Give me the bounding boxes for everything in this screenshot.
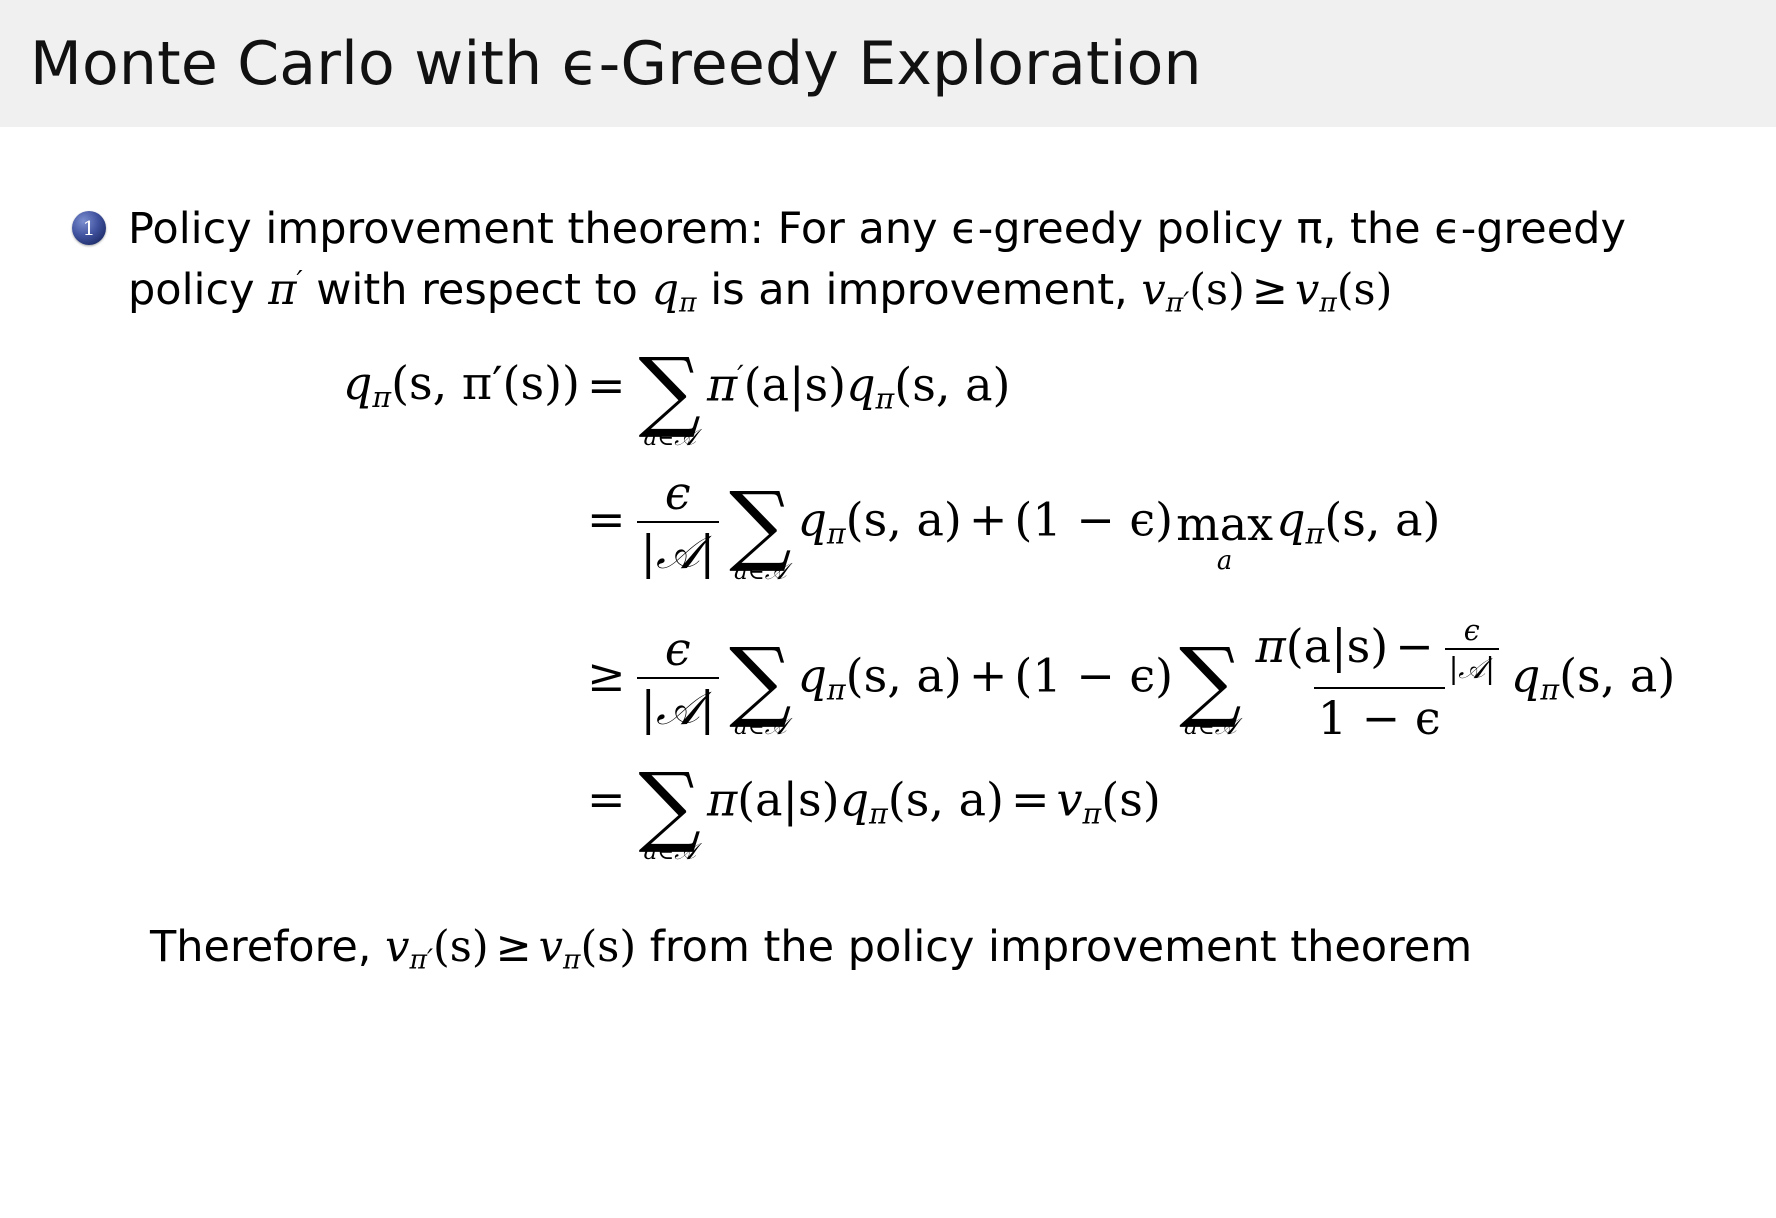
sigma-icon: ∑ — [729, 646, 791, 714]
sigma-icon: ∑ — [639, 356, 701, 424]
plus-operator: + — [969, 648, 1008, 702]
summation-operator-2: ∑a∈𝒜 — [1179, 646, 1241, 739]
q-subscript-pi: π — [876, 383, 895, 416]
q-subscript-pi: π — [372, 381, 391, 414]
q-arguments: (s, a) — [846, 492, 962, 546]
equation-row-2-rhs: =ϵ|𝒜|∑a∈𝒜qπ(s, a)+(1 − ϵ)maxaqπ(s, a) — [580, 466, 1440, 584]
conclusion-text: Therefore, vπ′(s)≥vπ(s) from the policy … — [0, 922, 1776, 975]
v-symbol: v — [1057, 772, 1083, 826]
summation-limit: a∈𝒜 — [734, 716, 787, 739]
v-subscript-pi-prime: π′ — [409, 944, 433, 975]
fraction-numerator: π(a|s)−ϵ|𝒜| — [1251, 614, 1506, 687]
max-operator: maxa — [1176, 497, 1273, 575]
v-symbol-1: v — [1141, 265, 1165, 315]
bullet-line-1: Policy improvement theorem: For any ϵ-gr… — [128, 199, 1596, 260]
enumerate-marker-1: 1 — [72, 211, 106, 245]
policy-difference-fraction: π(a|s)−ϵ|𝒜|1 − ϵ — [1251, 614, 1506, 745]
bullet-line2-post: is an improvement, — [697, 265, 1142, 315]
summation-operator: ∑a∈𝒜 — [639, 356, 701, 449]
summation-operator: ∑a∈𝒜 — [639, 771, 701, 864]
q-subscript-pi: π — [827, 517, 846, 550]
v-arg-2: (s) — [1337, 265, 1393, 315]
geq-relation: ≥ — [496, 922, 532, 972]
slide-root: Monte Carlo with ϵ-Greedy Exploration 1 … — [0, 0, 1776, 1218]
minus-operator: − — [1395, 619, 1434, 673]
v-arguments: (s) — [1101, 772, 1161, 826]
equals-relation: = — [587, 772, 626, 826]
plus-operator: + — [969, 492, 1008, 546]
equals-relation: = — [587, 492, 626, 546]
q-symbol: q — [797, 492, 826, 546]
v-subscript-pi: π — [563, 944, 581, 975]
epsilon-over-cardinality-fraction-inner: ϵ|𝒜| — [1445, 614, 1499, 686]
fraction-denominator: |𝒜| — [637, 677, 720, 737]
equals-relation: = — [587, 358, 626, 412]
fraction-denominator: |𝒜| — [637, 521, 720, 581]
q-symbol: q — [846, 358, 875, 412]
equation-row-3-rhs: ≥ϵ|𝒜|∑a∈𝒜qπ(s, a)+(1 − ϵ)∑a∈𝒜π(a|s)−ϵ|𝒜|… — [580, 614, 1675, 745]
equation-row-3: ≥ϵ|𝒜|∑a∈𝒜qπ(s, a)+(1 − ϵ)∑a∈𝒜π(a|s)−ϵ|𝒜|… — [160, 614, 1776, 745]
max-limit: a — [1217, 549, 1232, 575]
conclusion-post: from the policy improvement theorem — [636, 922, 1472, 972]
fraction-numerator: ϵ — [661, 466, 695, 521]
q-arguments: (s, a) — [846, 648, 962, 702]
v-arg-1: (s) — [433, 922, 489, 972]
list-item: 1 Policy improvement theorem: For any ϵ-… — [0, 199, 1776, 322]
pi-symbol: π — [707, 358, 737, 412]
summation-limit: a∈𝒜 — [643, 427, 696, 450]
v-arg-2: (s) — [581, 922, 637, 972]
pi-symbol: π — [707, 772, 737, 826]
bullet-line-2: policy π′ with respect to qπ is an impro… — [128, 260, 1596, 322]
v-symbol-2: v — [1295, 265, 1319, 315]
epsilon-over-cardinality-fraction: ϵ|𝒜| — [637, 622, 720, 737]
q-subscript-pi: π — [1540, 673, 1559, 706]
one-minus-epsilon-factor: (1 − ϵ) — [1014, 492, 1173, 546]
summation-limit: a∈𝒜 — [1184, 716, 1237, 739]
conditional-argument: (a|s) — [1286, 619, 1388, 673]
q-arguments: (s, a) — [1324, 492, 1440, 546]
fraction-denominator: |𝒜| — [1445, 648, 1499, 686]
equation-row-1-rhs: =∑a∈𝒜π′(a|s)qπ(s, a) — [580, 356, 1010, 449]
equation-block: qπ(s, π′(s)) =∑a∈𝒜π′(a|s)qπ(s, a) =ϵ|𝒜|∑… — [0, 356, 1776, 863]
fraction-numerator: ϵ — [661, 622, 695, 677]
q-subscript-pi: π — [1306, 517, 1325, 550]
geq-relation: ≥ — [587, 648, 626, 702]
bullet-text: Policy improvement theorem: For any ϵ-gr… — [128, 199, 1596, 322]
geq-relation: ≥ — [1252, 265, 1288, 315]
equation-row-2: =ϵ|𝒜|∑a∈𝒜qπ(s, a)+(1 − ϵ)maxaqπ(s, a) — [160, 466, 1776, 584]
q-symbol: q — [1276, 492, 1305, 546]
v-symbol-1: v — [385, 922, 409, 972]
q-subscript-pi: π — [679, 288, 697, 319]
v-symbol-2: v — [539, 922, 563, 972]
max-label: max — [1176, 497, 1273, 551]
one-minus-epsilon-factor: (1 − ϵ) — [1014, 648, 1173, 702]
q-subscript-pi: π — [827, 673, 846, 706]
v-arg-1: (s) — [1189, 265, 1245, 315]
conditional-argument: (a|s) — [737, 772, 839, 826]
q-symbol: q — [840, 772, 869, 826]
v-subscript-pi: π — [1083, 797, 1102, 830]
epsilon-over-cardinality-fraction: ϵ|𝒜| — [637, 466, 720, 581]
q-symbol: q — [652, 265, 680, 315]
conditional-argument: (a|s) — [744, 358, 846, 412]
bullet-line2-mid: with respect to — [303, 265, 652, 315]
equation-row-4-rhs: =∑a∈𝒜π(a|s)qπ(s, a)=vπ(s) — [580, 771, 1161, 864]
summation-operator: ∑a∈𝒜 — [729, 646, 791, 739]
q-subscript-pi: π — [869, 797, 888, 830]
sigma-icon: ∑ — [1179, 646, 1241, 714]
sigma-icon: ∑ — [639, 771, 701, 839]
slide-header: Monte Carlo with ϵ-Greedy Exploration — [0, 0, 1776, 127]
conclusion-pre: Therefore, — [150, 922, 385, 972]
q-symbol: q — [343, 356, 372, 410]
equation-row-4: =∑a∈𝒜π(a|s)qπ(s, a)=vπ(s) — [160, 771, 1776, 864]
fraction-denominator: 1 − ϵ — [1314, 687, 1445, 745]
equals-relation-2: = — [1011, 772, 1050, 826]
page-title: Monte Carlo with ϵ-Greedy Exploration — [0, 29, 1202, 99]
summation-limit: a∈𝒜 — [643, 841, 696, 864]
q-arguments: (s, a) — [1559, 648, 1675, 702]
fraction-numerator: ϵ — [1460, 614, 1484, 648]
equation-row-1: qπ(s, π′(s)) =∑a∈𝒜π′(a|s)qπ(s, a) — [160, 356, 1776, 449]
bullet-line2-pre: policy — [128, 265, 268, 315]
q-arguments: (s, π′(s)) — [391, 356, 580, 410]
slide-content: 1 Policy improvement theorem: For any ϵ-… — [0, 199, 1776, 975]
q-arguments: (s, a) — [894, 358, 1010, 412]
q-arguments: (s, a) — [888, 772, 1004, 826]
v-subscript-pi-prime: π′ — [1166, 288, 1190, 319]
summation-limit: a∈𝒜 — [734, 561, 787, 584]
q-symbol: q — [1511, 648, 1540, 702]
sigma-icon: ∑ — [729, 490, 791, 558]
summation-operator: ∑a∈𝒜 — [729, 490, 791, 583]
pi-symbol: π — [1255, 619, 1285, 673]
v-subscript-pi: π — [1319, 288, 1337, 319]
equation-row-1-lhs: qπ(s, π′(s)) — [160, 356, 580, 414]
pi-symbol: π — [268, 265, 296, 315]
q-symbol: q — [797, 648, 826, 702]
